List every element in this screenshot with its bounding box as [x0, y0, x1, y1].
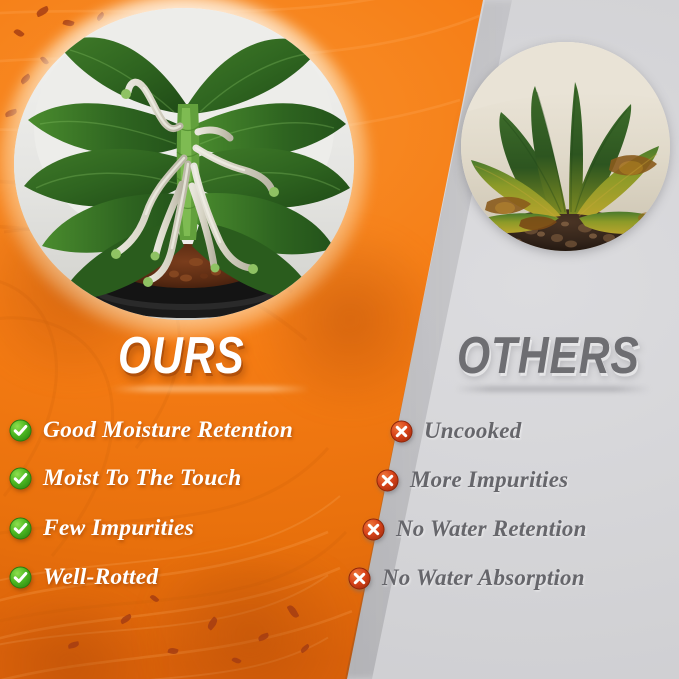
list-item-label: No Water Absorption	[382, 565, 585, 591]
list-item-label: Uncooked	[424, 418, 521, 444]
cross-icon	[376, 469, 399, 492]
list-item-label: Few Impurities	[43, 515, 194, 542]
list-item: Well-Rotted	[9, 564, 158, 591]
list-item: No Water Retention	[362, 516, 587, 542]
check-icon	[9, 467, 32, 490]
comparison-infographic: OURS OTHERS Good	[0, 0, 679, 679]
others-heading-rule	[455, 386, 650, 392]
list-item-label: Well-Rotted	[43, 564, 158, 591]
cross-icon	[390, 420, 413, 443]
unhealthy-plant-photo	[461, 42, 670, 251]
list-item-label: Moist To The Touch	[43, 465, 241, 492]
check-icon	[9, 566, 32, 589]
check-icon	[9, 419, 32, 442]
list-item-label: No Water Retention	[396, 516, 587, 542]
list-item: Uncooked	[390, 418, 521, 444]
list-item-label: Good Moisture Retention	[43, 417, 293, 444]
check-icon	[9, 517, 32, 540]
cross-icon	[348, 567, 371, 590]
list-item: Few Impurities	[9, 515, 194, 542]
list-item: More Impurities	[376, 467, 568, 493]
list-item-label: More Impurities	[410, 467, 568, 493]
cross-icon	[362, 518, 385, 541]
list-item: Good Moisture Retention	[9, 417, 293, 444]
others-heading: OTHERS	[457, 326, 640, 386]
list-item: No Water Absorption	[348, 565, 585, 591]
healthy-orchid-photo	[14, 8, 354, 320]
ours-heading-rule	[110, 386, 310, 392]
ours-heading: OURS	[118, 326, 244, 386]
list-item: Moist To The Touch	[9, 465, 241, 492]
